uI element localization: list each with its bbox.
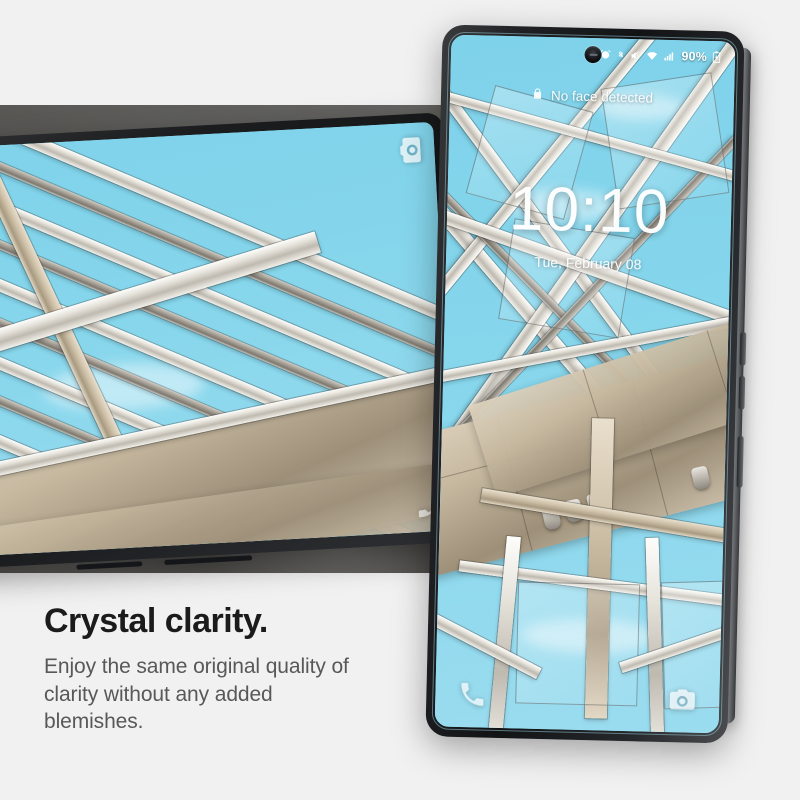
camera-shortcut-icon[interactable] [395,134,427,166]
marketing-copy-block: Crystal clarity. Enjoy the same original… [44,604,374,735]
volume-up-button[interactable] [739,332,746,366]
volume-down-button[interactable] [738,376,745,410]
page-title: Crystal clarity. [44,604,374,639]
device-left-screen[interactable]: 90% No face detected 10:10 Tue, Febr [0,122,455,567]
power-button[interactable] [737,436,744,488]
clock-date: Tue, February 08 [0,136,8,566]
lockscreen-clock-left: 10:10 Tue, February 08 [0,136,8,567]
device-right-upright[interactable]: 90% No face detected 10:10 Tue, February… [425,24,744,743]
device-left-lockscreen: 90% No face detected 10:10 Tue, Febr [0,122,455,567]
device-right-screen[interactable]: 90% No face detected 10:10 Tue, February… [435,35,736,734]
device-left-tilted[interactable]: 90% No face detected 10:10 Tue, Febr [0,112,466,579]
marketing-subcopy: Enjoy the same original quality of clari… [44,653,374,735]
wallpaper-right [435,35,736,734]
screenshot-canvas: 90% No face detected 10:10 Tue, Febr [0,0,800,800]
